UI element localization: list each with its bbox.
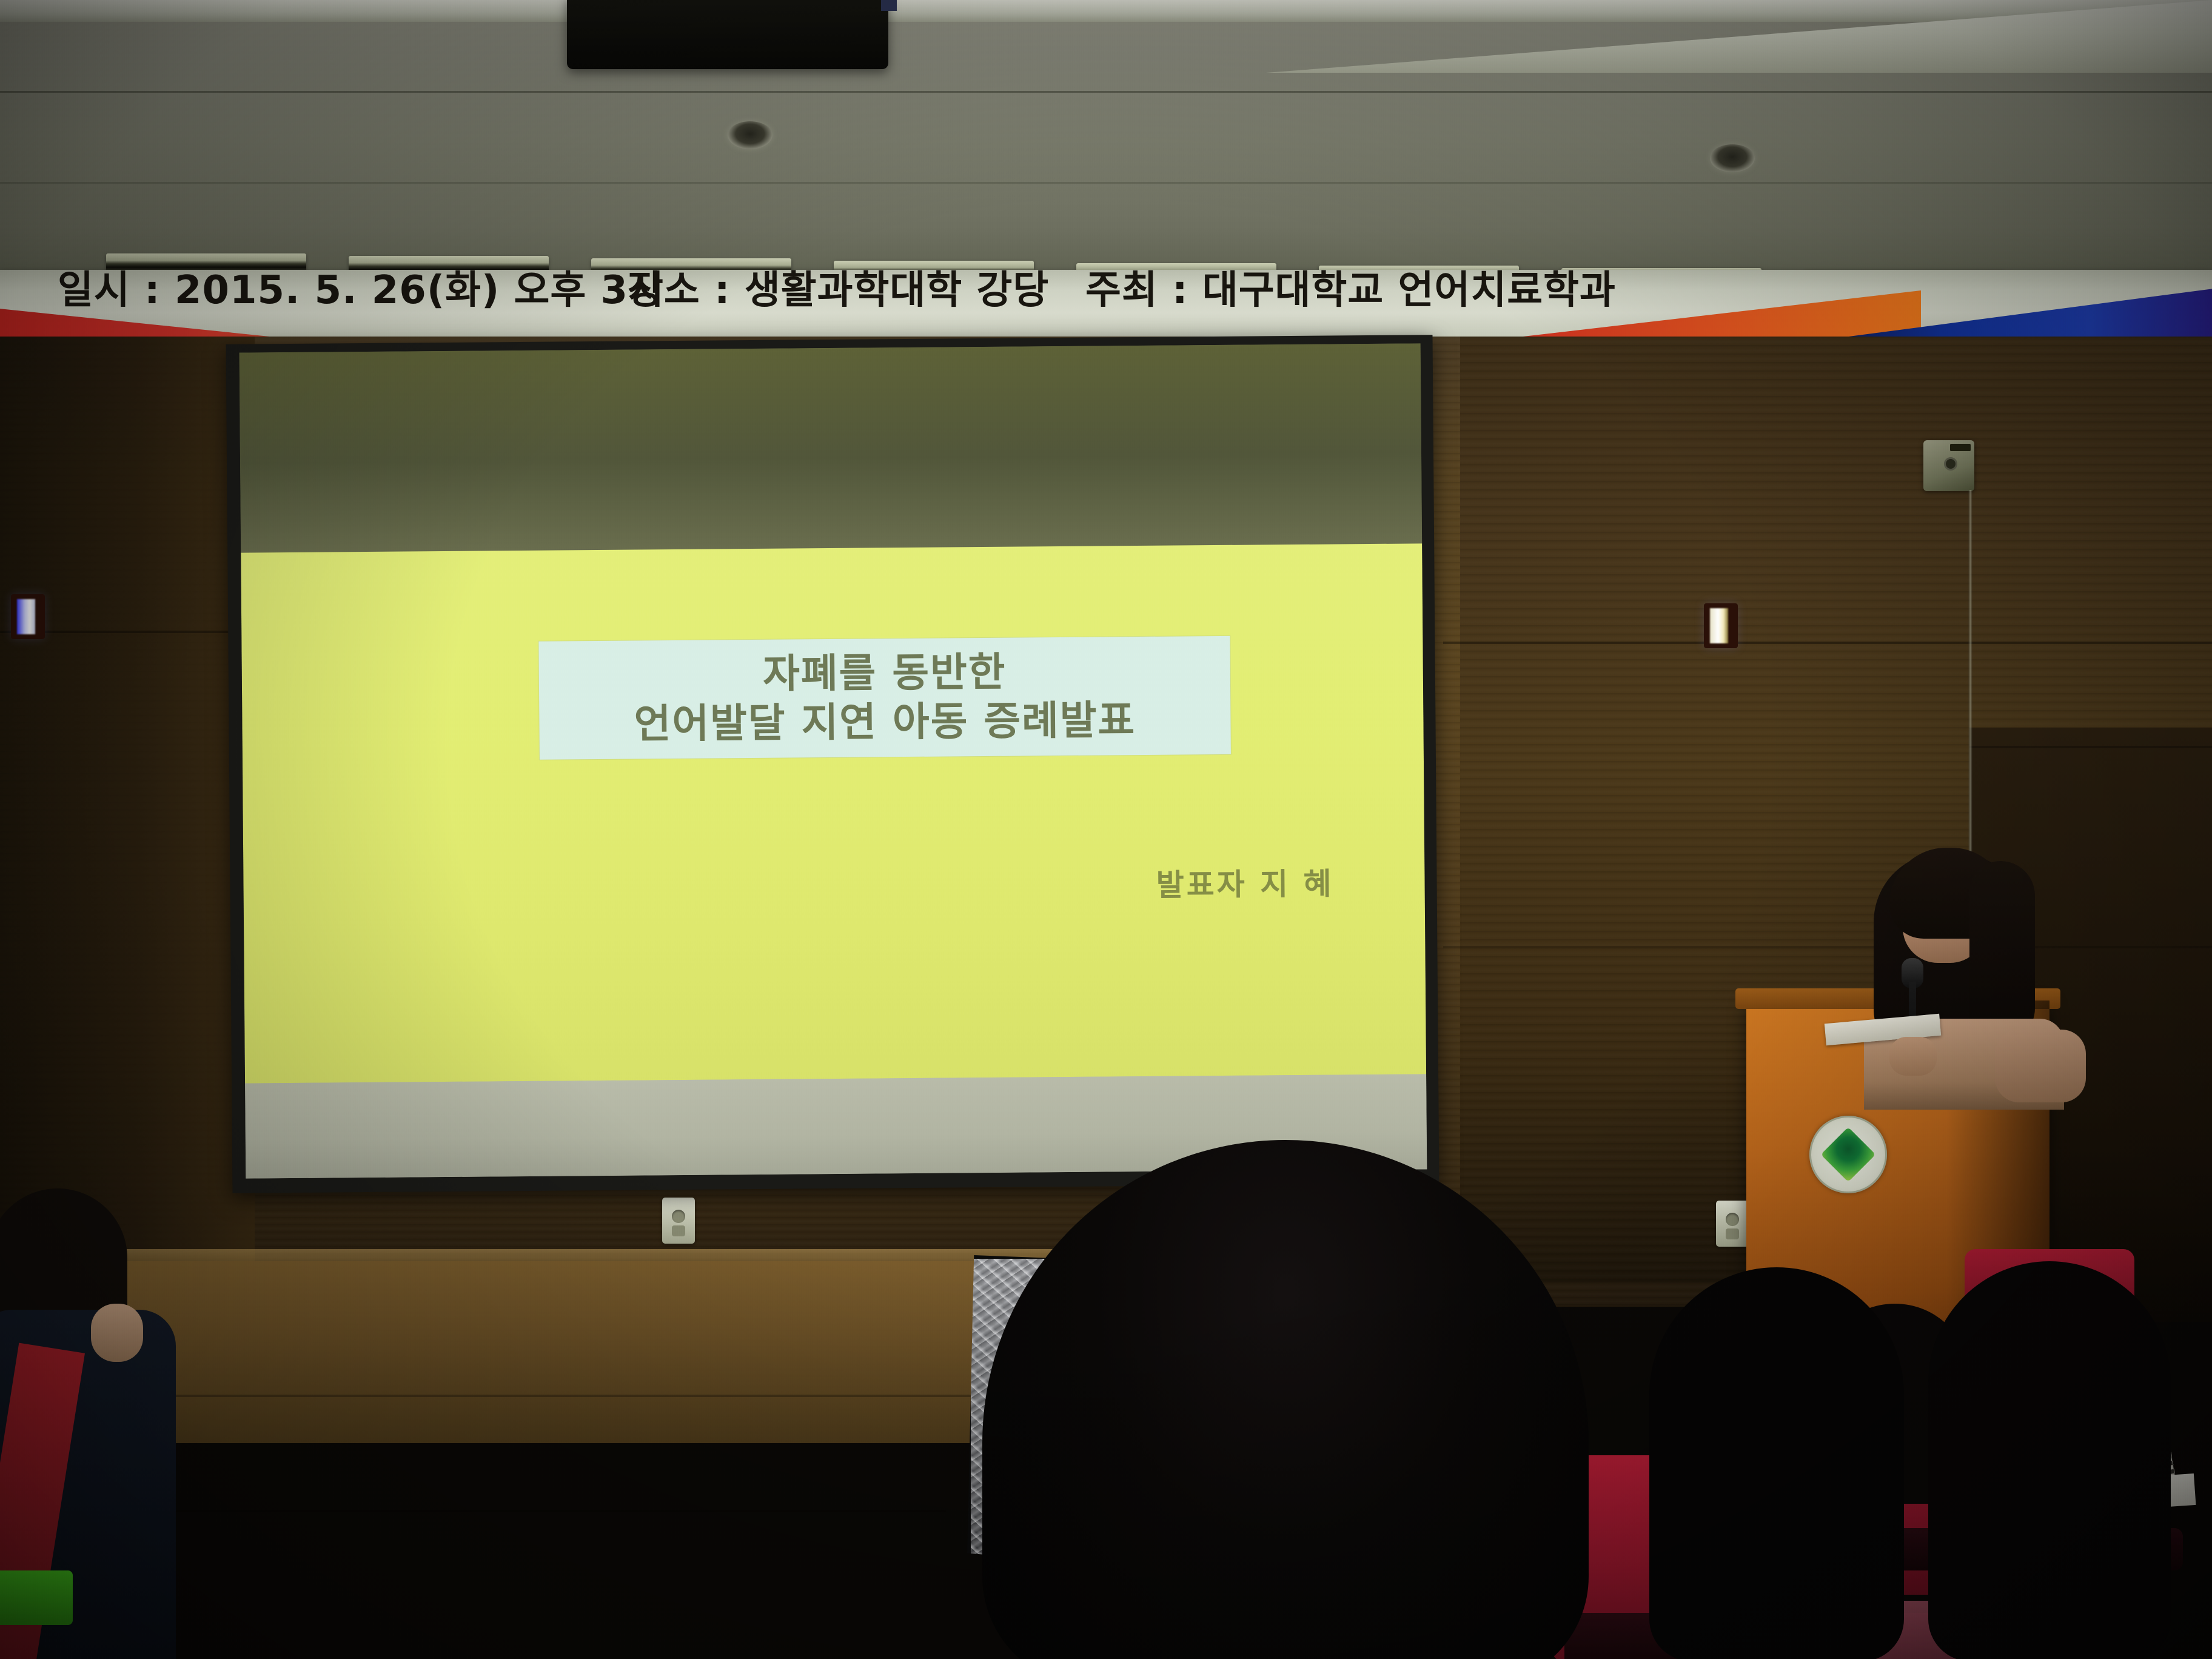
recessed-downlight-icon bbox=[728, 121, 773, 149]
banner-host: 주최 : 대구대학교 언어치료학과 bbox=[1085, 270, 1616, 315]
slide-title-box: 자폐를 동반한 언어발달 지연 아동 증례발표 bbox=[538, 636, 1230, 760]
ceiling-projector-unit bbox=[567, 0, 888, 69]
wall-outlet-icon[interactable] bbox=[662, 1198, 695, 1244]
wall-cable bbox=[1968, 490, 1972, 854]
auditorium-photo: 일시 : 2015. 5. 26(화) 오후 3시 장소 : 생활과학대학 강당… bbox=[0, 0, 2212, 1659]
wall-outlet-icon[interactable] bbox=[1716, 1201, 1749, 1247]
presenter-speaker bbox=[1868, 837, 2086, 1091]
audience-hand-left bbox=[91, 1304, 143, 1362]
wall-light-icon bbox=[11, 594, 45, 639]
ceiling-top-strip bbox=[0, 0, 2212, 22]
presenter-hair-side bbox=[1969, 861, 2035, 1043]
university-emblem-icon bbox=[1809, 1116, 1887, 1193]
screen-dim-area bbox=[240, 343, 1423, 552]
presenter-arm bbox=[1995, 1030, 2086, 1102]
green-object bbox=[0, 1570, 73, 1625]
projection-screen: 자폐를 동반한 언어발달 지연 아동 증례발표 발표자 지 혜 bbox=[226, 335, 1439, 1193]
slide-title-line-2: 언어발달 지연 아동 증례발표 bbox=[634, 696, 1136, 749]
banner-location: 장소 : 생활과학대학 강당 bbox=[628, 270, 1049, 315]
slide-presenter-name: 발표자 지 혜 bbox=[1156, 860, 1333, 905]
audience-head bbox=[1649, 1267, 1904, 1659]
wall-seam bbox=[1443, 642, 2212, 644]
ceiling-seam bbox=[0, 182, 2212, 184]
screen-surface: 자폐를 동반한 언어발달 지연 아동 증례발표 발표자 지 혜 bbox=[240, 343, 1427, 1178]
wood-wall-left bbox=[0, 337, 255, 1307]
presentation-slide: 자폐를 동반한 언어발달 지연 아동 증례발표 발표자 지 혜 bbox=[241, 543, 1426, 1083]
wall-seam bbox=[1969, 746, 2212, 748]
ceiling-seam bbox=[0, 91, 2212, 93]
recessed-downlight-icon bbox=[1710, 144, 1755, 172]
wall-light-icon bbox=[1704, 603, 1738, 648]
presenter-hand bbox=[1889, 1037, 1937, 1076]
wall-control-box[interactable] bbox=[1923, 440, 1974, 491]
audience-head bbox=[1928, 1261, 2171, 1659]
slide-title-line-1: 자폐를 동반한 bbox=[763, 648, 1007, 699]
banner-datetime: 일시 : 2015. 5. 26(화) 오후 3시 bbox=[58, 270, 665, 315]
event-banner: 일시 : 2015. 5. 26(화) 오후 3시 장소 : 생활과학대학 강당… bbox=[0, 270, 2212, 341]
wall-seam bbox=[1443, 946, 2212, 948]
